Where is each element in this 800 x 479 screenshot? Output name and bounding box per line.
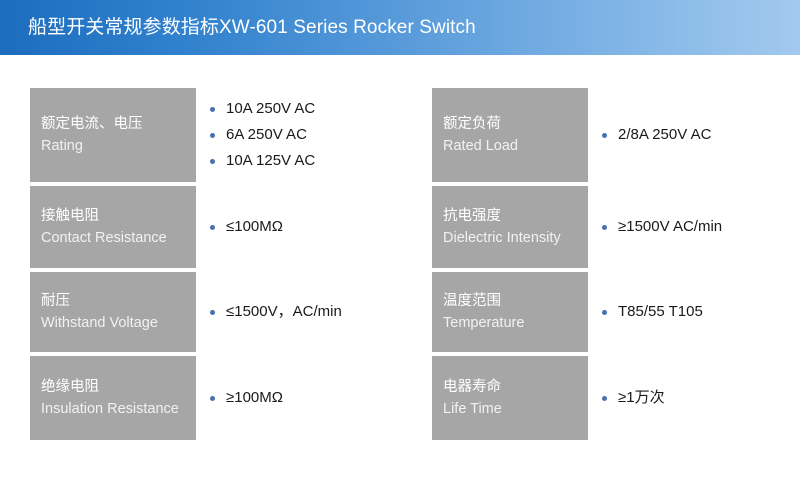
bullet-icon — [602, 225, 607, 230]
row-label-en: Insulation Resistance — [41, 398, 192, 420]
table-row: 接触电阻 Contact Resistance ≤100MΩ — [30, 186, 400, 268]
value-text: ≥1500V AC/min — [618, 214, 722, 240]
value-text: ≥100MΩ — [226, 385, 283, 411]
bullet-icon — [210, 107, 215, 112]
bullet-icon — [602, 133, 607, 138]
bullet-icon — [602, 396, 607, 401]
bullet-icon — [210, 396, 215, 401]
row-label-cn: 绝缘电阻 — [41, 376, 192, 398]
value-text: 10A 125V AC — [226, 148, 315, 174]
row-label-en: Contact Resistance — [41, 227, 192, 249]
page-title: 船型开关常规参数指标XW-601 Series Rocker Switch — [28, 16, 476, 40]
row-label-rating: 额定电流、电压 Rating — [30, 88, 196, 182]
bullet-icon — [210, 225, 215, 230]
row-label-en: Temperature — [443, 312, 584, 334]
table-row: 电器寿命 Life Time ≥1万次 — [432, 356, 800, 440]
table-row: 额定负荷 Rated Load 2/8A 250V AC — [432, 88, 800, 182]
row-label-temperature: 温度范围 Temperature — [432, 272, 588, 352]
bullet-icon — [210, 133, 215, 138]
row-values-temperature: T85/55 T105 — [588, 272, 800, 352]
value-text: 10A 250V AC — [226, 96, 315, 122]
row-label-en: Rating — [41, 135, 192, 157]
bullet-icon — [210, 159, 215, 164]
table-row: 额定电流、电压 Rating 10A 250V AC 6A 250V AC 10… — [30, 88, 400, 182]
list-item: ≥100MΩ — [210, 385, 400, 411]
row-values-contact-resistance: ≤100MΩ — [196, 186, 400, 268]
value-text: 2/8A 250V AC — [618, 122, 711, 148]
value-text: 6A 250V AC — [226, 122, 307, 148]
row-label-en: Dielectric Intensity — [443, 227, 584, 249]
list-item: 10A 125V AC — [210, 148, 400, 174]
row-label-life-time: 电器寿命 Life Time — [432, 356, 588, 440]
row-values-dielectric-intensity: ≥1500V AC/min — [588, 186, 800, 268]
value-text: ≥1万次 — [618, 385, 665, 411]
row-label-cn: 额定电流、电压 — [41, 113, 192, 135]
list-item: T85/55 T105 — [602, 299, 800, 325]
list-item: ≤1500V，AC/min — [210, 299, 400, 325]
row-values-withstand-voltage: ≤1500V，AC/min — [196, 272, 400, 352]
spec-table: 额定电流、电压 Rating 10A 250V AC 6A 250V AC 10… — [0, 55, 800, 479]
row-label-en: Rated Load — [443, 135, 584, 157]
table-row: 温度范围 Temperature T85/55 T105 — [432, 272, 800, 352]
row-label-contact-resistance: 接触电阻 Contact Resistance — [30, 186, 196, 268]
value-text: ≤1500V，AC/min — [226, 299, 342, 325]
spec-column-right: 额定负荷 Rated Load 2/8A 250V AC 抗电强度 Dielec… — [432, 88, 800, 444]
list-item: ≥1万次 — [602, 385, 800, 411]
row-label-dielectric-intensity: 抗电强度 Dielectric Intensity — [432, 186, 588, 268]
header-bar: 船型开关常规参数指标XW-601 Series Rocker Switch — [0, 0, 800, 55]
row-label-cn: 耐压 — [41, 290, 192, 312]
row-label-insulation-resistance: 绝缘电阻 Insulation Resistance — [30, 356, 196, 440]
list-item: 2/8A 250V AC — [602, 122, 800, 148]
table-row: 抗电强度 Dielectric Intensity ≥1500V AC/min — [432, 186, 800, 268]
list-item: 6A 250V AC — [210, 122, 400, 148]
row-label-cn: 额定负荷 — [443, 113, 584, 135]
row-values-insulation-resistance: ≥100MΩ — [196, 356, 400, 440]
row-values-rating: 10A 250V AC 6A 250V AC 10A 125V AC — [196, 88, 400, 182]
table-row: 绝缘电阻 Insulation Resistance ≥100MΩ — [30, 356, 400, 440]
row-label-cn: 抗电强度 — [443, 205, 584, 227]
bullet-icon — [210, 310, 215, 315]
row-label-en: Withstand Voltage — [41, 312, 192, 334]
value-text: ≤100MΩ — [226, 214, 283, 240]
row-label-cn: 温度范围 — [443, 290, 584, 312]
row-values-rated-load: 2/8A 250V AC — [588, 88, 800, 182]
list-item: 10A 250V AC — [210, 96, 400, 122]
spec-column-left: 额定电流、电压 Rating 10A 250V AC 6A 250V AC 10… — [30, 88, 400, 444]
row-values-life-time: ≥1万次 — [588, 356, 800, 440]
row-label-cn: 电器寿命 — [443, 376, 584, 398]
row-label-en: Life Time — [443, 398, 584, 420]
list-item: ≤100MΩ — [210, 214, 400, 240]
bullet-icon — [602, 310, 607, 315]
list-item: ≥1500V AC/min — [602, 214, 800, 240]
value-text: T85/55 T105 — [618, 299, 703, 325]
table-row: 耐压 Withstand Voltage ≤1500V，AC/min — [30, 272, 400, 352]
row-label-cn: 接触电阻 — [41, 205, 192, 227]
row-label-withstand-voltage: 耐压 Withstand Voltage — [30, 272, 196, 352]
slide-canvas: 船型开关常规参数指标XW-601 Series Rocker Switch 额定… — [0, 0, 800, 479]
row-label-rated-load: 额定负荷 Rated Load — [432, 88, 588, 182]
